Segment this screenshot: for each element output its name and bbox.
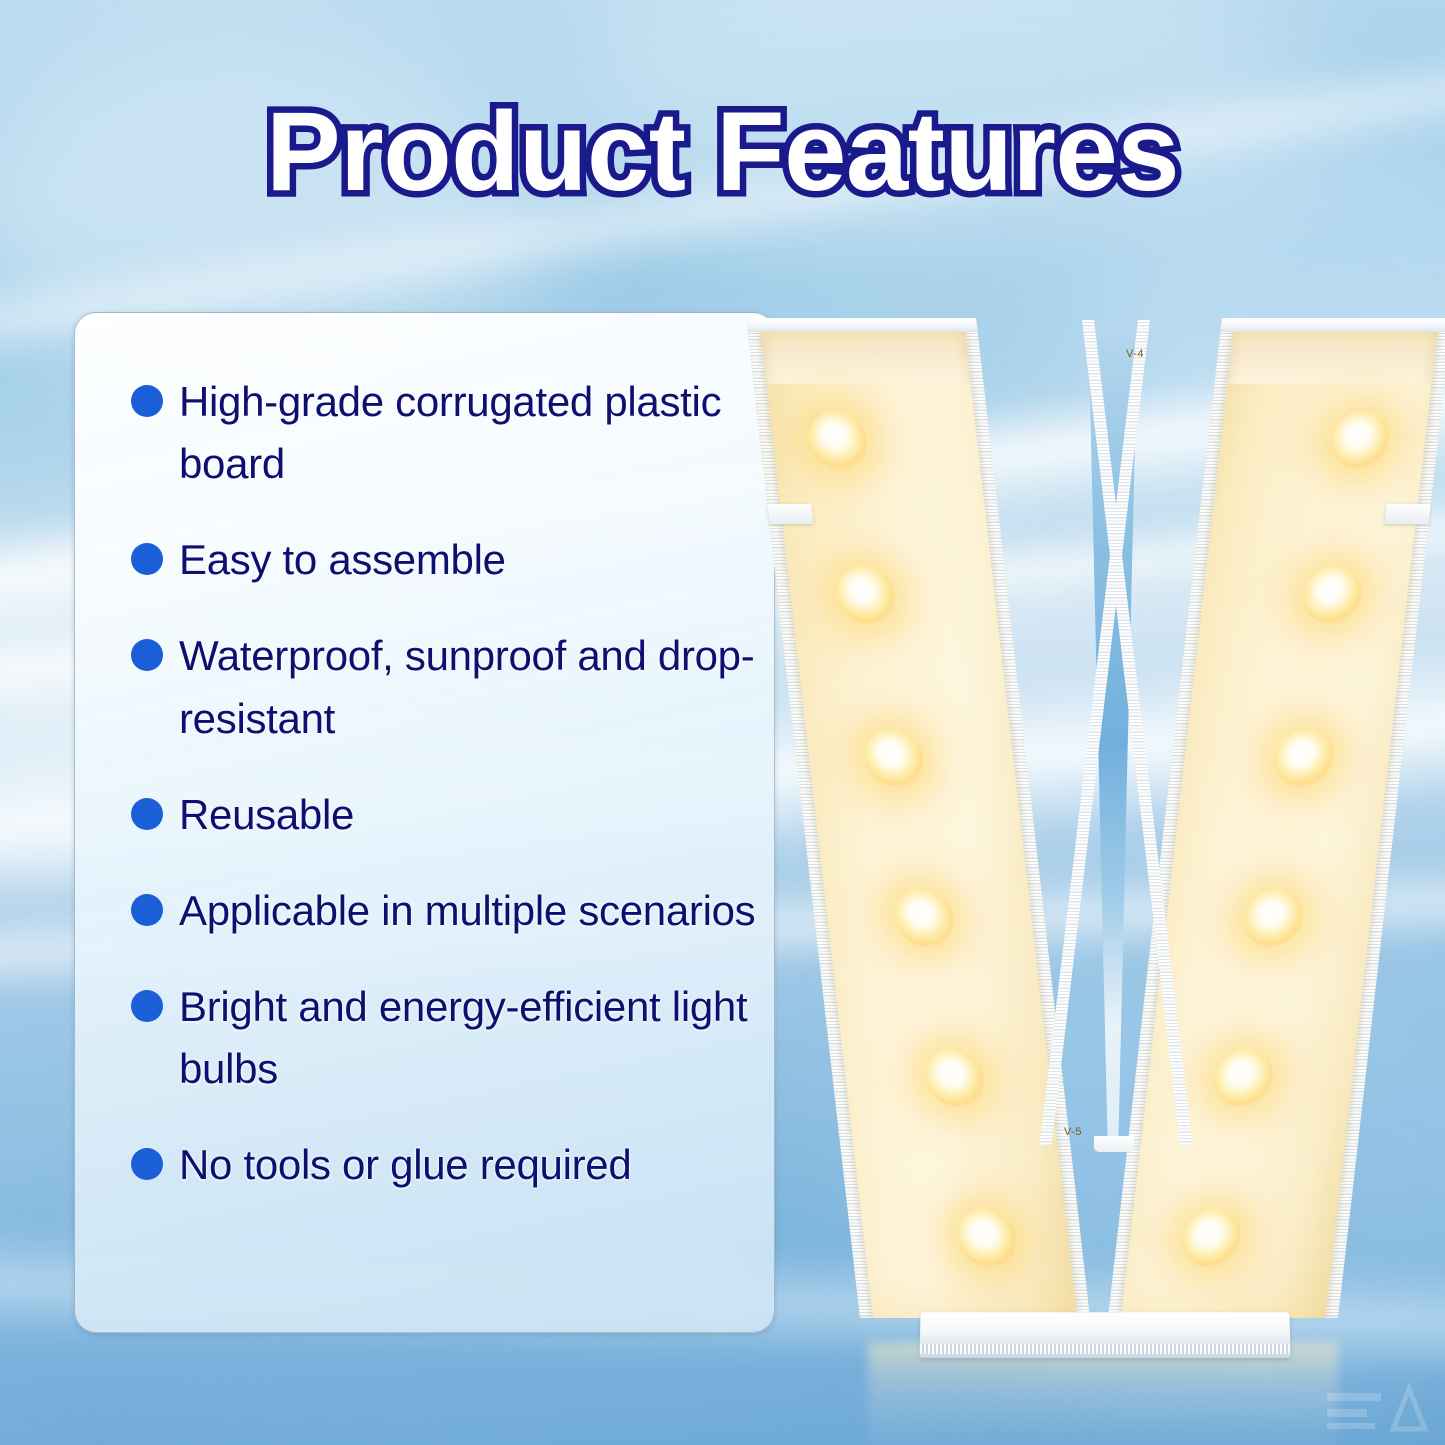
page-title: Product Features: [0, 96, 1445, 208]
bullet-icon: [131, 1148, 163, 1180]
letter-arm-top-lip: [1220, 318, 1445, 332]
list-item: Applicable in multiple scenarios: [75, 880, 774, 942]
list-item: Bright and energy-efficient light bulbs: [75, 976, 774, 1100]
feature-label: No tools or glue required: [179, 1134, 631, 1196]
features-card: High-grade corrugated plastic board Easy…: [74, 312, 775, 1333]
bullet-icon: [131, 543, 163, 575]
bullet-icon: [131, 385, 163, 417]
product-features-infographic: Product Features High-grade corrugated p…: [0, 0, 1445, 1445]
list-item: High-grade corrugated plastic board: [75, 371, 774, 495]
list-item: No tools or glue required: [75, 1134, 774, 1196]
letter-arm-top-lip: [746, 318, 978, 332]
watermark-logo-icon: [1323, 1379, 1431, 1435]
feature-label: Bright and energy-efficient light bulbs: [179, 976, 760, 1100]
bullet-icon: [131, 894, 163, 926]
bullet-icon: [131, 798, 163, 830]
letter-base-edge: [920, 1344, 1290, 1354]
letter-shoulder-notch: [767, 504, 813, 524]
letter-center-gap-bottom: [1094, 1136, 1134, 1152]
letter-shoulder-notch: [1384, 504, 1430, 524]
product-image-marquee-letter: V-4 V-5: [858, 300, 1368, 1415]
feature-label: Applicable in multiple scenarios: [179, 880, 755, 942]
feature-label: Reusable: [179, 784, 354, 846]
bullet-icon: [131, 639, 163, 671]
list-item: Easy to assemble: [75, 529, 774, 591]
feature-list: High-grade corrugated plastic board Easy…: [75, 371, 774, 1231]
feature-label: Easy to assemble: [179, 529, 506, 591]
part-label-mid: V-5: [1064, 1126, 1082, 1138]
list-item: Reusable: [75, 784, 774, 846]
feature-label: Waterproof, sunproof and drop-resistant: [179, 625, 760, 749]
feature-label: High-grade corrugated plastic board: [179, 371, 760, 495]
list-item: Waterproof, sunproof and drop-resistant: [75, 625, 774, 749]
part-label-top: V-4: [1126, 348, 1144, 360]
bullet-icon: [131, 990, 163, 1022]
